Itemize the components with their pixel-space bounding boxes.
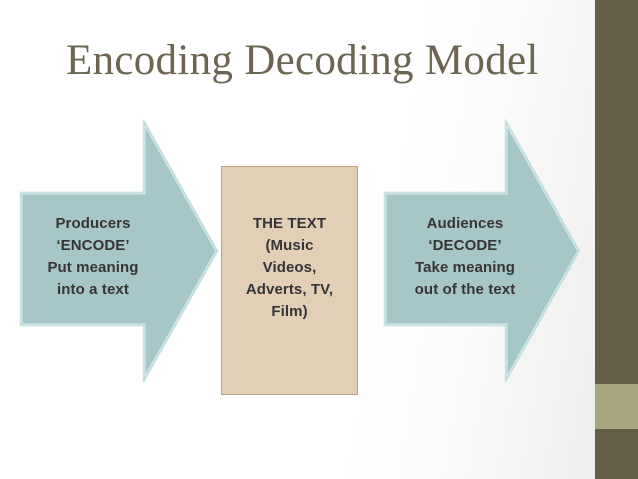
slide-canvas: Encoding Decoding Model Producers ‘ENCOD… <box>0 0 638 479</box>
sidebar-band-lower-olive <box>595 429 638 479</box>
decorative-sidebar <box>595 0 638 479</box>
decode-line-1: Audiences <box>385 213 545 235</box>
sidebar-band-khaki-accent <box>595 384 638 429</box>
the-text-box-label: THE TEXT (Music Videos, Adverts, TV, Fil… <box>221 213 358 323</box>
encode-line-4: into a text <box>22 279 164 301</box>
encode-line-3: Put meaning <box>22 257 164 279</box>
thetext-line-3: Videos, <box>221 257 358 279</box>
encode-line-1: Producers <box>22 213 164 235</box>
decode-line-4: out of the text <box>385 279 545 301</box>
encode-arrow-label: Producers ‘ENCODE’ Put meaning into a te… <box>22 213 164 301</box>
thetext-line-5: Film) <box>221 301 358 323</box>
thetext-line-2: (Music <box>221 235 358 257</box>
sidebar-band-upper-olive <box>595 0 638 384</box>
decode-line-2: ‘DECODE’ <box>385 235 545 257</box>
page-title: Encoding Decoding Model <box>66 36 586 85</box>
thetext-line-1: THE TEXT <box>221 213 358 235</box>
thetext-line-4: Adverts, TV, <box>221 279 358 301</box>
decode-line-3: Take meaning <box>385 257 545 279</box>
encode-line-2: ‘ENCODE’ <box>22 235 164 257</box>
decode-arrow-label: Audiences ‘DECODE’ Take meaning out of t… <box>385 213 545 301</box>
